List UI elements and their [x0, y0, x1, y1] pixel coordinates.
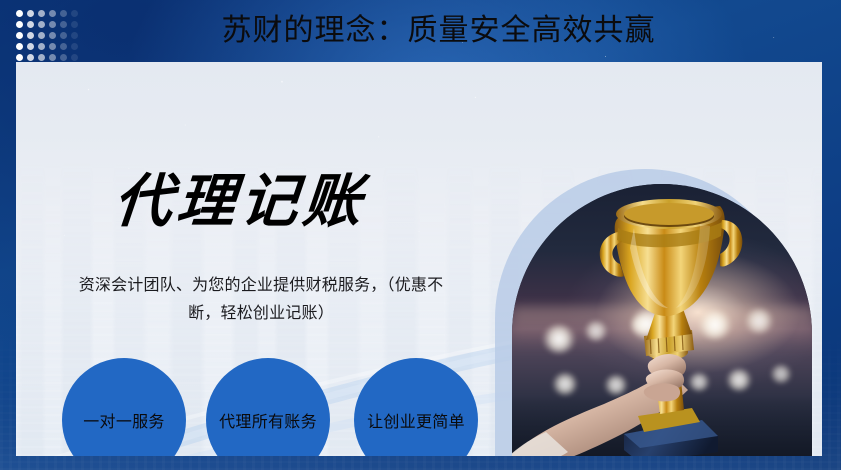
feature-circle-1-label: 一对一服务 — [83, 408, 165, 432]
trophy-illustration — [512, 184, 812, 456]
grid-dot — [49, 54, 56, 61]
grid-dot — [27, 54, 34, 61]
trophy-photo — [512, 184, 812, 456]
feature-circle-3-label: 让创业更简单 — [367, 408, 465, 432]
grid-dot — [60, 54, 67, 61]
description-text: 资深会计团队、为您的企业提供财税服务，（优惠不断，轻松创业记账） — [70, 272, 452, 328]
slide-root: 苏财的理念：质量安全高效共赢 — [0, 0, 841, 470]
grid-dot — [16, 54, 23, 61]
feature-circle-2-label: 代理所有账务 — [219, 408, 317, 432]
main-heading: 代理记账 — [111, 170, 369, 234]
grid-dot — [38, 54, 45, 61]
page-title: 苏财的理念：质量安全高效共赢 — [0, 8, 841, 54]
grid-dot — [71, 54, 78, 61]
content-panel: 代理记账 资深会计团队、为您的企业提供财税服务，（优惠不断，轻松创业记账） 一对… — [16, 62, 822, 456]
